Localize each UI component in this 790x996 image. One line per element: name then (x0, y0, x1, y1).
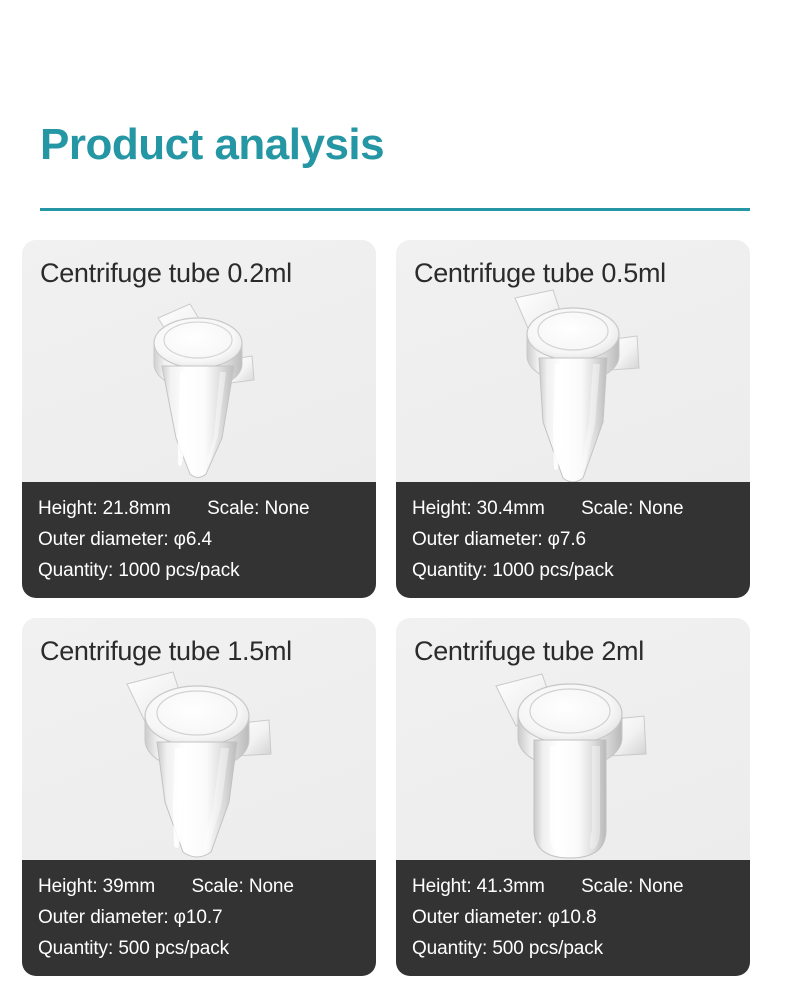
spec-row-height-scale: Height: 41.3mm Scale: None (412, 871, 750, 902)
spec-row-quantity: Quantity: 500 pcs/pack (412, 933, 750, 964)
tube-image-stage (396, 289, 750, 482)
spec-scale: Scale: None (581, 876, 683, 897)
title-divider (40, 208, 750, 211)
product-analysis-page: Product analysis Centrifuge tube 0.2ml (0, 0, 790, 996)
product-card[interactable]: Centrifuge tube 0.2ml (22, 240, 376, 598)
product-spec-panel: Height: 39mm Scale: None Outer diameter:… (22, 860, 376, 976)
product-spec-panel: Height: 21.8mm Scale: None Outer diamete… (22, 482, 376, 598)
centrifuge-tube-icon (495, 289, 651, 482)
spec-row-diameter: Outer diameter: φ6.4 (38, 524, 376, 555)
product-card[interactable]: Centrifuge tube 1.5ml (22, 618, 376, 976)
product-spec-panel: Height: 41.3mm Scale: None Outer diamete… (396, 860, 750, 976)
product-spec-panel: Height: 30.4mm Scale: None Outer diamete… (396, 482, 750, 598)
tube-image-stage (396, 667, 750, 860)
spec-scale: Scale: None (207, 498, 309, 519)
spec-row-diameter: Outer diameter: φ10.8 (412, 902, 750, 933)
tube-image-stage (22, 289, 376, 482)
spec-row-quantity: Quantity: 500 pcs/pack (38, 933, 376, 964)
product-card-title: Centrifuge tube 0.2ml (22, 240, 376, 289)
product-card-title: Centrifuge tube 2ml (396, 618, 750, 667)
spec-row-height-scale: Height: 30.4mm Scale: None (412, 493, 750, 524)
spec-row-quantity: Quantity: 1000 pcs/pack (412, 555, 750, 586)
spec-row-diameter: Outer diameter: φ10.7 (38, 902, 376, 933)
product-card[interactable]: Centrifuge tube 0.5ml (396, 240, 750, 598)
spec-scale: Scale: None (191, 876, 293, 897)
spec-row-diameter: Outer diameter: φ7.6 (412, 524, 750, 555)
page-title: Product analysis (40, 122, 384, 168)
centrifuge-tube-icon (484, 667, 662, 860)
spec-row-height-scale: Height: 21.8mm Scale: None (38, 493, 376, 524)
spec-row-height-scale: Height: 39mm Scale: None (38, 871, 376, 902)
centrifuge-tube-icon (113, 667, 285, 860)
product-card[interactable]: Centrifuge tube 2ml (396, 618, 750, 976)
product-card-title: Centrifuge tube 0.5ml (396, 240, 750, 289)
spec-height: Height: 39mm (38, 876, 155, 897)
spec-height: Height: 30.4mm (412, 498, 545, 519)
spec-height: Height: 21.8mm (38, 498, 171, 519)
centrifuge-tube-icon (124, 289, 274, 482)
tube-image-stage (22, 667, 376, 860)
spec-height: Height: 41.3mm (412, 876, 545, 897)
spec-scale: Scale: None (581, 498, 683, 519)
spec-row-quantity: Quantity: 1000 pcs/pack (38, 555, 376, 586)
product-card-title: Centrifuge tube 1.5ml (22, 618, 376, 667)
product-card-grid: Centrifuge tube 0.2ml (22, 240, 750, 976)
